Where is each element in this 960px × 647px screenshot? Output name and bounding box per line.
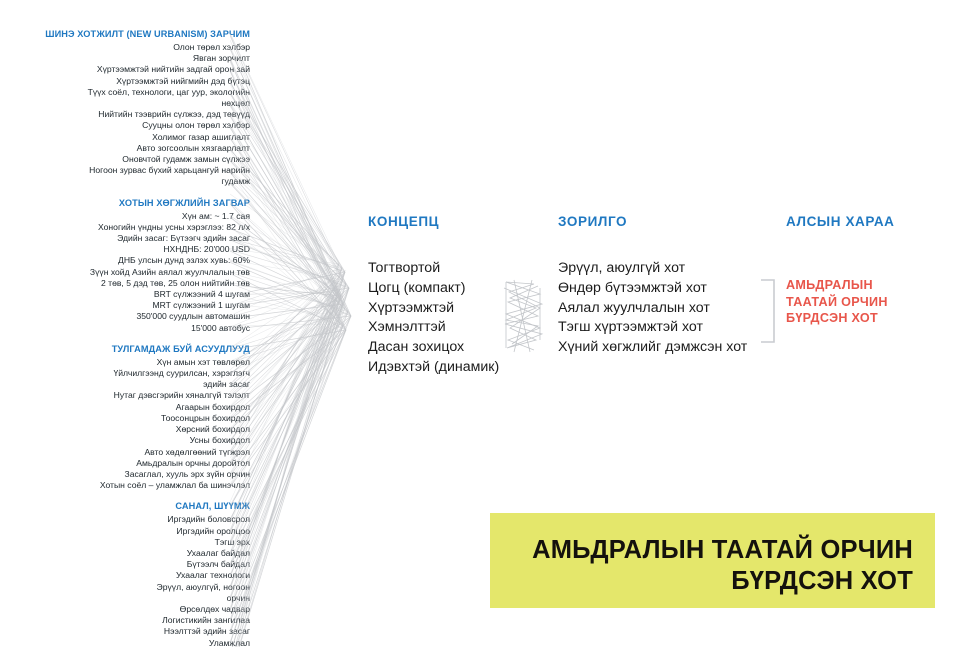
- left-list-item: Сууцны олон төрөл хэлбэр: [30, 120, 250, 131]
- left-group-new-urbanism: ШИНЭ ХОТЖИЛТ (NEW URBANISM) ЗАРЧИМ Олон …: [30, 28, 250, 188]
- left-list-item: BRT сүлжээний 4 шугам: [30, 289, 250, 300]
- left-list-item: Оновчтой гудамж замын сүлжээ: [30, 154, 250, 165]
- banner-line-2: БҮРДСЭН ХОТ: [513, 566, 913, 597]
- left-list-item: 2 төв, 5 дэд төв, 25 олон нийтийн төв: [30, 278, 250, 289]
- left-list-item: Ухаалаг технологи: [30, 570, 250, 581]
- left-list-item: Нийтийн тээврийн сүлжээ, дэд төвүүд: [30, 109, 250, 120]
- left-list-item: Нээлттэй эдийн засаг: [30, 626, 250, 637]
- vision-heading: АЛСЫН ХАРАА: [786, 214, 895, 229]
- banner-line-1: АМЬДРАЛЫН ТААТАЙ ОРЧИН: [513, 535, 913, 566]
- left-list-item: Ухаалаг байдал: [30, 548, 250, 559]
- left-list-item: Эдийн засаг: Бүтээгч эдийн засаг: [30, 233, 250, 244]
- left-list-item: 15'000 автобус: [30, 323, 250, 334]
- converging-lines-diagram: [230, 0, 370, 647]
- goal-item: Аялал жуулчлалын хот: [558, 299, 747, 319]
- vision-column: АЛСЫН ХАРАА АМЬДРАЛЫН ТААТАЙ ОРЧИН БҮРДС…: [786, 214, 895, 327]
- concept-item: Дасан зохицох: [368, 338, 499, 358]
- concept-item: Хэмнэлттэй: [368, 318, 499, 338]
- left-list-item: Авто хөдөлгөөний түгжрэл: [30, 447, 250, 458]
- slide-canvas: ШИНЭ ХОТЖИЛТ (NEW URBANISM) ЗАРЧИМ Олон …: [0, 0, 960, 647]
- left-list-item: НХНДНБ: 20'000 USD: [30, 244, 250, 255]
- concept-heading: КОНЦЕПЦ: [368, 214, 499, 229]
- left-list-item: Холимог газар ашиглалт: [30, 132, 250, 143]
- vision-statement: АМЬДРАЛЫН ТААТАЙ ОРЧИН БҮРДСЭН ХОТ: [786, 277, 895, 327]
- concept-column: КОНЦЕПЦ Тогтвортой Цогц (компакт) Хүртээ…: [368, 214, 499, 378]
- left-list-item: MRT сүлжээний 1 шугам: [30, 300, 250, 311]
- left-list-item: ДНБ улсын дунд эзлэх хувь: 60%: [30, 255, 250, 266]
- left-list-item: Түүх соёл, технологи, цаг уур, экологийн: [30, 87, 250, 98]
- left-group-heading: ТУЛГАМДАЖ БУЙ АСУУДЛУУД: [30, 343, 250, 355]
- left-group-city-model: ХОТЫН ХӨГЖЛИЙН ЗАГВАР Хүн ам: ~ 1.7 сая …: [30, 197, 250, 334]
- left-list-item: Явган зорчилт: [30, 53, 250, 64]
- left-group-heading: САНАЛ, ШҮҮМЖ: [30, 500, 250, 512]
- bracket-icon: [758, 278, 780, 344]
- left-group-issues: ТУЛГАМДАЖ БУЙ АСУУДЛУУД Хүн амын хэт төв…: [30, 343, 250, 491]
- left-list-item: гудамж: [30, 176, 250, 187]
- left-list-item: Хоногийн үндны усны хэрэглээ: 82 л/х: [30, 222, 250, 233]
- left-list-item: Агаарын бохирдол: [30, 402, 250, 413]
- vision-line: АМЬДРАЛЫН: [786, 277, 895, 294]
- goal-list: Эрүүл, аюулгүй хот Өндөр бүтээмжтэй хот …: [558, 259, 747, 358]
- left-list-item: Хүртээмжтэй нийгмийн дэд бүтэц: [30, 76, 250, 87]
- left-list-item: Хүн ам: ~ 1.7 сая: [30, 211, 250, 222]
- left-group-proposals: САНАЛ, ШҮҮМЖ Иргэдийн боловсрол Иргэдийн…: [30, 500, 250, 647]
- left-list-item: Эрүүл, аюулгүй, ногоон: [30, 582, 250, 593]
- left-column: ШИНЭ ХОТЖИЛТ (NEW URBANISM) ЗАРЧИМ Олон …: [30, 28, 250, 647]
- left-list-item: Хотын соёл – уламжлал ба шинэчлэл: [30, 480, 250, 491]
- left-list-item: Авто зогсоолын хязгаарлалт: [30, 143, 250, 154]
- scribble-connector-icon: [500, 278, 546, 354]
- left-list-item: Тоосонцрын бохирдол: [30, 413, 250, 424]
- goal-heading: ЗОРИЛГО: [558, 214, 747, 229]
- left-list-item: Логистикийн зангилаа: [30, 615, 250, 626]
- goal-item: Хүний хөгжлийг дэмжсэн хот: [558, 338, 747, 358]
- goal-column: ЗОРИЛГО Эрүүл, аюулгүй хот Өндөр бүтээмж…: [558, 214, 747, 358]
- left-list-item: Тэгш эрх: [30, 537, 250, 548]
- left-list-item: Амьдралын орчны доройтол: [30, 458, 250, 469]
- left-list-item: Өрсөлдөх чадвар: [30, 604, 250, 615]
- left-list-item: Нутаг дэвсгэрийн хяналгүй тэлэлт: [30, 390, 250, 401]
- concept-list: Тогтвортой Цогц (компакт) Хүртээмжтэй Хэ…: [368, 259, 499, 378]
- concept-item: Цогц (компакт): [368, 279, 499, 299]
- left-group-heading: ХОТЫН ХӨГЖЛИЙН ЗАГВАР: [30, 197, 250, 209]
- left-list-item: Иргэдийн оролцоо: [30, 526, 250, 537]
- left-group-heading: ШИНЭ ХОТЖИЛТ (NEW URBANISM) ЗАРЧИМ: [30, 28, 250, 40]
- concept-item: Тогтвортой: [368, 259, 499, 279]
- concept-item: Идэвхтэй (динамик): [368, 358, 499, 378]
- left-list-item: Засаглал, хууль эрх зүйн орчин: [30, 469, 250, 480]
- vision-line: ТААТАЙ ОРЧИН: [786, 294, 895, 311]
- left-list-item: Олон төрөл хэлбэр: [30, 42, 250, 53]
- left-list-item: Усны бохирдол: [30, 435, 250, 446]
- left-list-item: Бүтээлч байдал: [30, 559, 250, 570]
- vision-banner: АМЬДРАЛЫН ТААТАЙ ОРЧИН БҮРДСЭН ХОТ: [490, 513, 935, 608]
- left-list-item: Ногоон зурвас бүхий харьцангуй нарийн: [30, 165, 250, 176]
- left-list-item: Зүүн хойд Азийн аялал жуулчлалын төв: [30, 267, 250, 278]
- left-list-item: нөхцөл: [30, 98, 250, 109]
- banner-text: АМЬДРАЛЫН ТААТАЙ ОРЧИН БҮРДСЭН ХОТ: [513, 535, 913, 597]
- goal-item: Тэгш хүртээмжтэй хот: [558, 318, 747, 338]
- left-list-item: Хүртээмжтэй нийтийн задгай орон зай: [30, 64, 250, 75]
- concept-item: Хүртээмжтэй: [368, 299, 499, 319]
- left-list-item: Үйлчилгээнд суурилсан, хэрэглэгч: [30, 368, 250, 379]
- left-list-item: Уламжлал: [30, 638, 250, 647]
- goal-item: Эрүүл, аюулгүй хот: [558, 259, 747, 279]
- left-list-item: 350'000 суудлын автомашин: [30, 311, 250, 322]
- vision-line: БҮРДСЭН ХОТ: [786, 310, 895, 327]
- left-list-item: Иргэдийн боловсрол: [30, 514, 250, 525]
- left-list-item: Хөрсний бохирдол: [30, 424, 250, 435]
- left-list-item: орчин: [30, 593, 250, 604]
- goal-item: Өндөр бүтээмжтэй хот: [558, 279, 747, 299]
- left-list-item: Хүн амын хэт төвлөрөл: [30, 357, 250, 368]
- left-list-item: эдийн засаг: [30, 379, 250, 390]
